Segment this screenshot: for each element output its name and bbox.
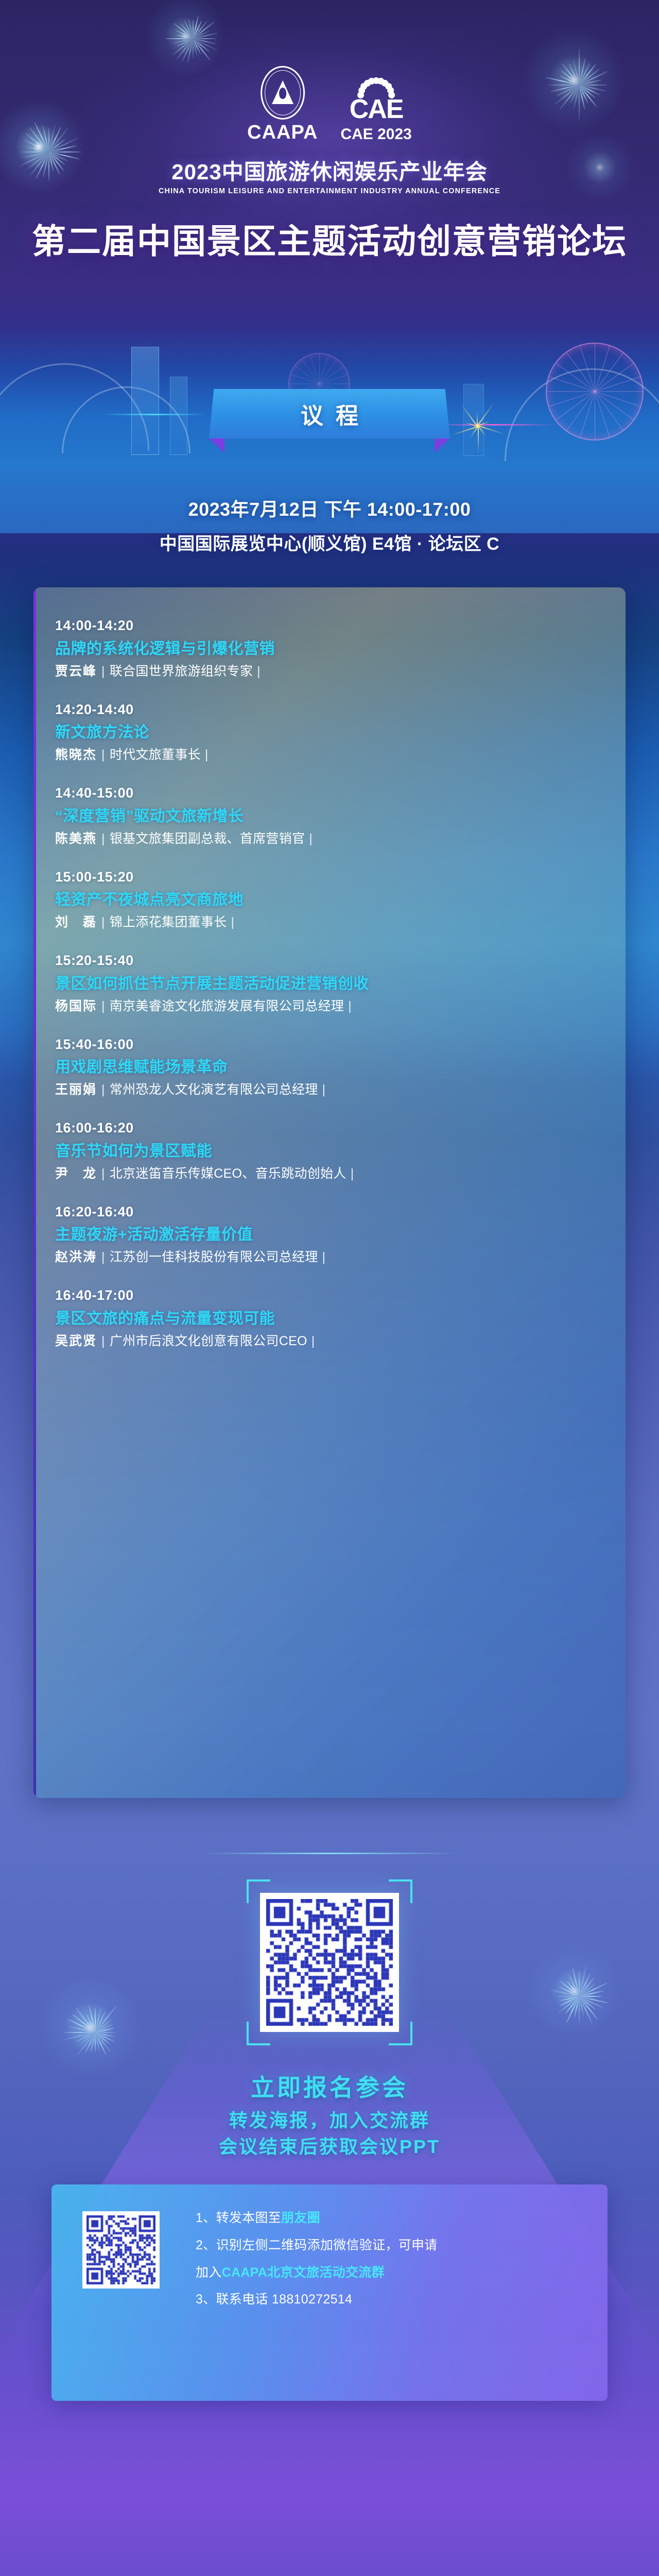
ribbon-label: 议程 xyxy=(288,397,371,430)
agenda-ribbon: 议程 xyxy=(0,389,659,446)
instruction-item-1: 1、转发本图至朋友圈 xyxy=(196,2208,590,2228)
cta-headline: 立即报名参会 xyxy=(0,2069,659,2103)
speaker-name: 王丽娟 xyxy=(55,1082,97,1097)
speaker-separator: | xyxy=(101,999,105,1013)
registration-section: 立即报名参会 转发海报，加入交流群 会议结束后获取会议PPT 1、转发本图至朋友… xyxy=(0,1834,659,2576)
poster-root: CAAPA CAE CAE 2023 2023中国旅游休闲娱乐产业年会 CHIN… xyxy=(0,0,659,2576)
agenda-session: 14:40-15:00“深度营销”驱动文旅新增长陈美燕|银基文旅集团副总裁、首席… xyxy=(55,785,607,848)
speaker-org: 时代文旅董事长 xyxy=(110,748,201,762)
speaker-name: 吴武贤 xyxy=(55,1334,97,1348)
speaker-tail-mark: | xyxy=(205,748,209,762)
logo-row: CAAPA CAE CAE 2023 xyxy=(247,66,412,142)
speaker-org: 锦上添花集团董事长 xyxy=(110,915,227,929)
instruction-2-cont-prefix: 加入 xyxy=(196,2265,222,2280)
qr-bracket-top-right xyxy=(389,1879,412,1903)
session-speaker-line: 熊晓杰|时代文旅董事长| xyxy=(55,747,607,764)
session-speaker-line: 陈美燕|银基文旅集团副总裁、首席营销官| xyxy=(55,831,607,848)
cta-sub-line2: 会议结束后获取会议PPT xyxy=(0,2133,659,2160)
session-time: 15:40-16:00 xyxy=(55,1036,607,1054)
agenda-card: 14:00-14:20品牌的系统化逻辑与引爆化营销贾云峰|联合国世界旅游组织专家… xyxy=(33,587,626,1798)
speaker-name: 刘 磊 xyxy=(55,915,97,929)
page-title: 第二届中国景区主题活动创意营销论坛 xyxy=(0,223,659,261)
speaker-tail-mark: | xyxy=(322,1082,326,1097)
instruction-2-text: 2、识别左侧二维码添加微信验证，可申请 xyxy=(196,2238,438,2252)
caapa-group-name: CAAPA北京文旅活动交流群 xyxy=(222,2265,385,2280)
speaker-tail-mark: | xyxy=(309,832,313,846)
speaker-org: 南京美睿途文化旅游发展有限公司总经理 xyxy=(110,999,344,1013)
speaker-org: 广州市后浪文化创意有限公司CEO xyxy=(110,1334,307,1348)
speaker-separator: | xyxy=(101,1334,105,1348)
speaker-separator: | xyxy=(101,1250,105,1264)
moments-link[interactable]: 朋友圈 xyxy=(281,2211,320,2225)
session-topic: 景区如何抓住节点开展主题活动促进营销创收 xyxy=(55,974,607,994)
instruction-item-2-cont: 加入CAAPA北京文旅活动交流群 xyxy=(196,2263,590,2283)
speaker-separator: | xyxy=(101,1166,105,1181)
speaker-tail-mark: | xyxy=(257,664,261,679)
session-topic: “深度营销”驱动文旅新增长 xyxy=(55,806,607,826)
session-speaker-line: 刘 磊|锦上添花集团董事长| xyxy=(55,914,607,931)
contact-phone-text: 3、联系电话 18810272514 xyxy=(196,2292,352,2307)
session-speaker-line: 赵洪涛|江苏创一佳科技股份有限公司总经理| xyxy=(55,1249,607,1266)
session-time: 14:20-14:40 xyxy=(55,701,607,719)
ribbon-tail-right xyxy=(435,438,450,453)
speaker-tail-mark: | xyxy=(231,915,235,929)
speaker-separator: | xyxy=(101,915,105,929)
conference-name-cn: 2023中国旅游休闲娱乐产业年会 xyxy=(0,155,659,186)
session-time: 16:40-17:00 xyxy=(55,1287,607,1304)
speaker-separator: | xyxy=(101,748,105,762)
speaker-org: 常州恐龙人文化演艺有限公司总经理 xyxy=(110,1082,318,1097)
cta-subtext: 转发海报，加入交流群 会议结束后获取会议PPT xyxy=(0,2107,659,2160)
speaker-name: 陈美燕 xyxy=(55,832,97,846)
qr-bracket-bottom-left xyxy=(247,2022,270,2045)
agenda-session-list: 14:00-14:20品牌的系统化逻辑与引爆化营销贾云峰|联合国世界旅游组织专家… xyxy=(55,617,607,1371)
session-time: 16:20-16:40 xyxy=(55,1204,607,1221)
contact-info-card: 1、转发本图至朋友圈 2、识别左侧二维码添加微信验证，可申请 加入CAAPA北京… xyxy=(51,2184,608,2401)
event-meta: 2023年7月12日 下午 14:00-17:00 中国国际展览中心(顺义馆) … xyxy=(0,495,659,555)
session-speaker-line: 吴武贤|广州市后浪文化创意有限公司CEO| xyxy=(55,1333,607,1350)
event-datetime: 2023年7月12日 下午 14:00-17:00 xyxy=(0,495,659,521)
cae-wordmark: CAE 2023 xyxy=(340,127,411,142)
speaker-name: 尹 龙 xyxy=(55,1166,97,1181)
agenda-session: 15:40-16:00用戏剧思维赋能场景革命王丽娟|常州恐龙人文化演艺有限公司总… xyxy=(55,1036,607,1099)
agenda-session: 15:00-15:20轻资产不夜城点亮文商旅地刘 磊|锦上添花集团董事长| xyxy=(55,869,607,932)
qr-bracket-bottom-right xyxy=(389,2022,412,2045)
agenda-session: 16:00-16:20音乐节如何为景区赋能尹 龙|北京迷笛音乐传媒CEO、音乐跳… xyxy=(55,1120,607,1183)
registration-qr-code[interactable] xyxy=(260,1893,399,2032)
caapa-seal-icon xyxy=(261,66,305,120)
session-time: 15:00-15:20 xyxy=(55,869,607,886)
instruction-item-2: 2、识别左侧二维码添加微信验证，可申请 xyxy=(196,2235,590,2256)
cae-logo: CAE CAE 2023 xyxy=(340,81,411,142)
speaker-name: 杨国际 xyxy=(55,999,97,1013)
ribbon-tail-left xyxy=(209,438,224,453)
session-time: 14:00-14:20 xyxy=(55,617,607,635)
speaker-separator: | xyxy=(101,832,105,846)
agenda-session: 14:20-14:40新文旅方法论熊晓杰|时代文旅董事长| xyxy=(55,701,607,765)
speaker-name: 赵洪涛 xyxy=(55,1250,97,1264)
session-topic: 音乐节如何为景区赋能 xyxy=(55,1141,607,1161)
conference-name-en: CHINA TOURISM LEISURE AND ENTERTAINMENT … xyxy=(13,187,646,195)
speaker-tail-mark: | xyxy=(322,1250,326,1264)
caapa-logo: CAAPA xyxy=(247,66,318,142)
cta-sub-line1: 转发海报，加入交流群 xyxy=(0,2107,659,2133)
cae-letters: CAE xyxy=(343,96,410,123)
instruction-list: 1、转发本图至朋友圈 2、识别左侧二维码添加微信验证，可申请 加入CAAPA北京… xyxy=(196,2208,590,2317)
speaker-tail-mark: | xyxy=(351,1166,354,1181)
session-speaker-line: 尹 龙|北京迷笛音乐传媒CEO、音乐跳动创始人| xyxy=(55,1165,607,1183)
agenda-session: 16:40-17:00景区文旅的痛点与流量变现可能吴武贤|广州市后浪文化创意有限… xyxy=(55,1287,607,1350)
event-venue: 中国国际展览中心(顺义馆) E4馆 · 论坛区 C xyxy=(0,530,659,555)
speaker-separator: | xyxy=(101,664,105,679)
session-speaker-line: 杨国际|南京美睿途文化旅游发展有限公司总经理| xyxy=(55,998,607,1015)
ribbon-banner: 议程 xyxy=(209,389,450,438)
speaker-name: 贾云峰 xyxy=(55,664,97,679)
instruction-1-text: 1、转发本图至 xyxy=(196,2211,281,2225)
cae-ferris-icon: CAE xyxy=(343,81,410,124)
speaker-org: 银基文旅集团副总裁、首席营销官 xyxy=(110,832,305,846)
agenda-session: 15:20-15:40景区如何抓住节点开展主题活动促进营销创收杨国际|南京美睿途… xyxy=(55,952,607,1015)
qr-bracket-top-left xyxy=(247,1879,270,1903)
caapa-wordmark: CAAPA xyxy=(247,123,318,142)
session-topic: 轻资产不夜城点亮文商旅地 xyxy=(55,890,607,910)
session-time: 15:20-15:40 xyxy=(55,952,607,970)
speaker-org: 联合国世界旅游组织专家 xyxy=(110,664,253,679)
speaker-org: 北京迷笛音乐传媒CEO、音乐跳动创始人 xyxy=(110,1166,346,1181)
session-speaker-line: 王丽娟|常州恐龙人文化演艺有限公司总经理| xyxy=(55,1081,607,1099)
agenda-session: 14:00-14:20品牌的系统化逻辑与引爆化营销贾云峰|联合国世界旅游组织专家… xyxy=(55,617,607,681)
instruction-item-3: 3、联系电话 18810272514 xyxy=(196,2290,590,2310)
speaker-tail-mark: | xyxy=(311,1334,315,1348)
speaker-name: 熊晓杰 xyxy=(55,748,97,762)
session-topic: 主题夜游+活动激活存量价值 xyxy=(55,1225,607,1245)
session-topic: 用戏剧思维赋能场景革命 xyxy=(55,1057,607,1077)
speaker-org: 江苏创一佳科技股份有限公司总经理 xyxy=(110,1250,318,1264)
session-topic: 新文旅方法论 xyxy=(55,722,607,742)
session-speaker-line: 贾云峰|联合国世界旅游组织专家| xyxy=(55,663,607,681)
session-time: 16:00-16:20 xyxy=(55,1120,607,1137)
session-time: 14:40-15:00 xyxy=(55,785,607,802)
session-topic: 品牌的系统化逻辑与引爆化营销 xyxy=(55,639,607,659)
section-divider xyxy=(201,1853,458,1854)
wechat-qr-code[interactable] xyxy=(82,2211,160,2289)
session-topic: 景区文旅的痛点与流量变现可能 xyxy=(55,1309,607,1329)
speaker-tail-mark: | xyxy=(348,999,352,1013)
speaker-separator: | xyxy=(101,1082,105,1097)
agenda-session: 16:20-16:40主题夜游+活动激活存量价值赵洪涛|江苏创一佳科技股份有限公… xyxy=(55,1204,607,1267)
